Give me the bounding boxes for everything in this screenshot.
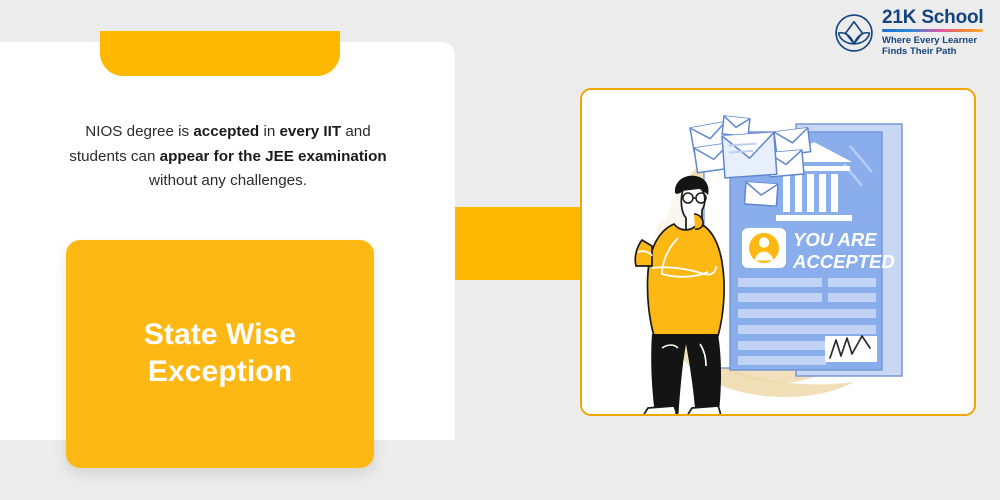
illustration-card: YOU ARE ACCEPTED: [580, 88, 976, 416]
lotus-circle-icon: [834, 13, 874, 53]
acceptance-letter-illustration: YOU ARE ACCEPTED: [582, 90, 974, 414]
body-text-seg-1: accepted: [193, 123, 259, 140]
brand-tagline: Where Every Learner Finds Their Path: [882, 35, 983, 59]
body-text: NIOS degree is accepted in every IIT and…: [58, 120, 398, 194]
brand-logo-text: 21K School Where Every Learner Finds The…: [882, 8, 983, 58]
document-heading-line1: YOU ARE: [793, 229, 877, 250]
brand-tagline-line1: Where Every Learner: [882, 35, 977, 46]
cta-title: State Wise Exception: [144, 317, 296, 390]
cta-title-line1: State Wise: [144, 317, 296, 354]
brand-gradient-rule: [882, 29, 983, 32]
top-accent-tab: [100, 31, 340, 76]
body-text-seg-3: every IIT: [279, 123, 341, 140]
brand-logo[interactable]: 21K School Where Every Learner Finds The…: [834, 8, 983, 58]
brand-tagline-line2: Finds Their Path: [882, 46, 956, 57]
document-heading-line2: ACCEPTED: [792, 251, 895, 272]
cta-title-line2: Exception: [144, 354, 296, 391]
body-text-seg-2: in: [259, 123, 279, 140]
body-text-seg-5: appear for the JEE examination: [160, 148, 387, 165]
body-text-seg-6: without any challenges.: [149, 172, 307, 189]
poster-canvas: NIOS degree is accepted in every IIT and…: [0, 0, 1000, 500]
avatar-icon: [742, 228, 786, 268]
body-text-seg-0: NIOS degree is: [85, 123, 193, 140]
state-wise-exception-card[interactable]: State Wise Exception: [66, 240, 374, 468]
accent-connector-bar: [455, 207, 583, 280]
brand-title: 21K School: [882, 8, 983, 29]
